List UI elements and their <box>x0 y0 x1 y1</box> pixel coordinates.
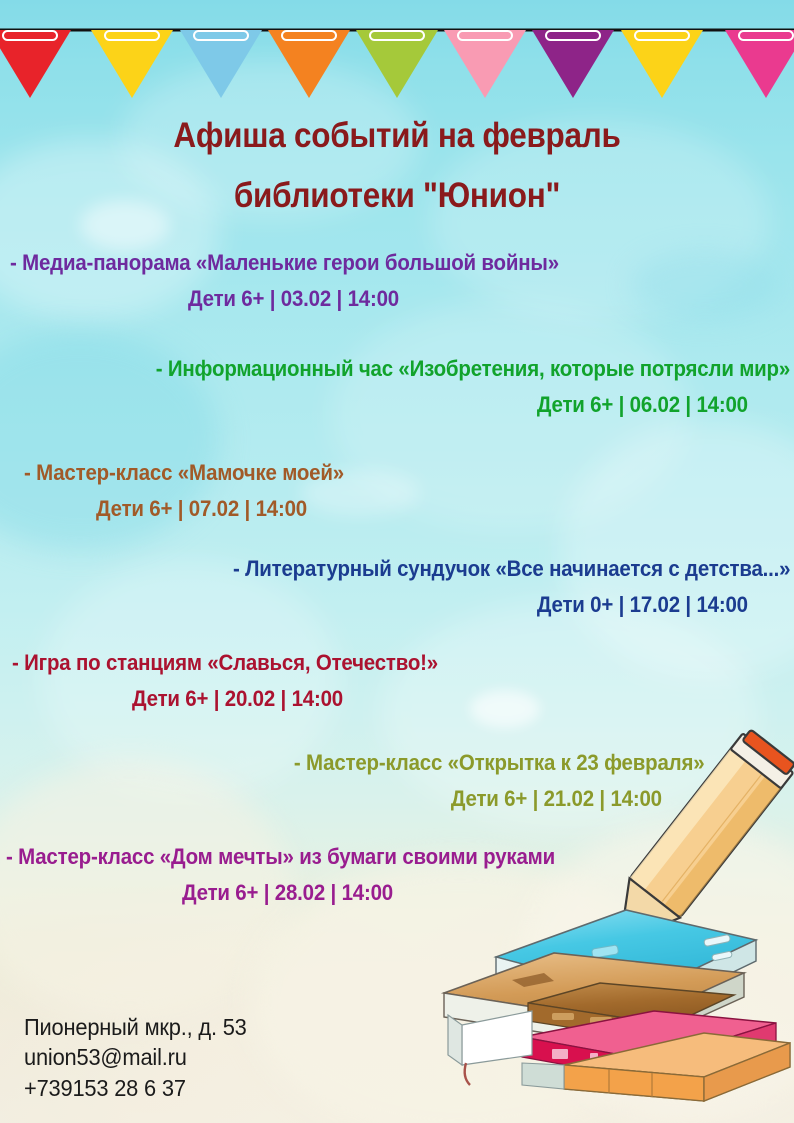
bunting-flag-4 <box>268 30 350 103</box>
bunting-flag-2 <box>91 30 173 103</box>
flag-clip-icon <box>634 30 690 41</box>
event-details: Дети 6+ | 20.02 | 14:00 <box>12 675 470 711</box>
event-title: - Игра по станциям «Славься, Отечество!» <box>12 652 470 675</box>
flag-clip-icon <box>369 30 425 41</box>
flag-clip-icon <box>545 30 601 41</box>
bunting-flag-5 <box>356 30 438 103</box>
bunting-banner <box>0 0 794 105</box>
event-item-2: - Информационный час «Изобретения, котор… <box>108 358 790 417</box>
flag-clip-icon <box>281 30 337 41</box>
poster-root: Афиша событий на февраль библиотеки "Юни… <box>0 0 794 1123</box>
flag-clip-icon <box>738 30 794 41</box>
flag-clip-icon <box>193 30 249 41</box>
event-item-3: - Мастер-класс «Мамочке моей»Дети 6+ | 0… <box>24 462 368 521</box>
event-title: - Медиа-панорама «Маленькие герои большо… <box>10 252 600 275</box>
event-title-text: - Литературный сундучок «Все начинается … <box>233 558 790 580</box>
event-details: Дети 6+ | 03.02 | 14:00 <box>10 275 600 311</box>
page-title-line-1: Афиша событий на февраль <box>40 118 755 153</box>
event-item-5: - Игра по станциям «Славься, Отечество!»… <box>12 652 470 711</box>
event-details: Дети 6+ | 06.02 | 14:00 <box>108 381 790 417</box>
contact-block: Пионерный мкр., д. 53 union53@mail.ru +7… <box>24 1012 258 1103</box>
event-details-text: Дети 6+ | 07.02 | 14:00 <box>96 498 307 520</box>
bunting-flag-3 <box>180 30 262 103</box>
event-details-text: Дети 6+ | 06.02 | 14:00 <box>537 394 748 416</box>
event-details-text: Дети 6+ | 20.02 | 14:00 <box>132 688 343 710</box>
event-details-text: Дети 6+ | 03.02 | 14:00 <box>188 288 399 310</box>
event-details: Дети 6+ | 07.02 | 14:00 <box>24 485 368 521</box>
event-title: - Мастер-класс «Мамочке моей» <box>24 462 368 485</box>
bunting-flag-7 <box>532 30 614 103</box>
event-item-4: - Литературный сундучок «Все начинается … <box>191 558 790 617</box>
bunting-flag-9 <box>725 30 794 103</box>
page-title-line-2: библиотеки "Юнион" <box>40 178 755 213</box>
flag-clip-icon <box>457 30 513 41</box>
event-title: - Информационный час «Изобретения, котор… <box>108 358 790 381</box>
contact-address: Пионерный мкр., д. 53 <box>24 1012 247 1042</box>
event-details: Дети 0+ | 17.02 | 14:00 <box>191 581 790 617</box>
book-stack-icon <box>404 725 794 1105</box>
event-title-text: - Игра по станциям «Славься, Отечество!» <box>12 652 438 674</box>
contact-email[interactable]: union53@mail.ru <box>24 1042 247 1072</box>
event-item-1: - Медиа-панорама «Маленькие герои большо… <box>10 252 600 311</box>
bunting-flag-6 <box>444 30 526 103</box>
event-title-text: - Медиа-панорама «Маленькие герои большо… <box>10 252 559 274</box>
event-title: - Литературный сундучок «Все начинается … <box>191 558 790 581</box>
contact-phone[interactable]: +739153 28 6 37 <box>24 1073 247 1103</box>
event-title-text: - Информационный час «Изобретения, котор… <box>156 358 790 380</box>
event-details-text: Дети 0+ | 17.02 | 14:00 <box>537 594 748 616</box>
book-stack-with-pencil-illustration <box>404 725 794 1105</box>
event-title-text: - Мастер-класс «Мамочке моей» <box>24 462 344 484</box>
bunting-flag-8 <box>621 30 703 103</box>
bunting-flag-1 <box>0 30 71 103</box>
flag-clip-icon <box>104 30 160 41</box>
flag-clip-icon <box>2 30 58 41</box>
event-details-text: Дети 6+ | 28.02 | 14:00 <box>182 882 393 904</box>
